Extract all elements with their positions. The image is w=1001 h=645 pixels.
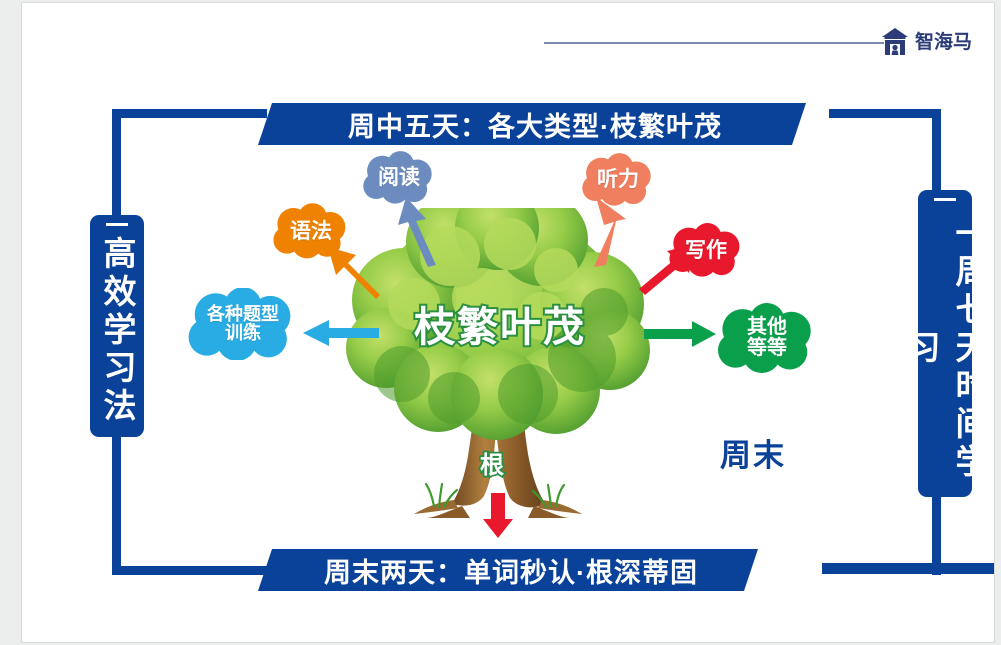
frame-segment-right-lower [932, 495, 941, 575]
notch-decoration [106, 223, 128, 226]
side-label-right: 一周七天时间学习 [918, 190, 972, 497]
frame-segment-top-right [829, 109, 941, 118]
cloud-writing-label: 写作 [685, 240, 727, 262]
arrow-to-other-icon [644, 319, 718, 349]
cloud-exercise-line2: 训练 [225, 323, 261, 343]
cloud-exercise-label: 各种题型 训练 [207, 305, 279, 343]
cloud-other-line2: 等等 [747, 337, 787, 359]
header-rule [544, 42, 884, 44]
arrow-to-grammar-icon [318, 241, 388, 303]
frame-segment-left-lower [112, 435, 121, 575]
cloud-listening-label: 听力 [597, 169, 639, 191]
side-label-right-text: 一周七天时间学习 [897, 200, 993, 497]
arrow-to-listening-icon [584, 193, 634, 269]
notch-decoration [934, 198, 956, 201]
cloud-other-label: 其他 等等 [747, 317, 787, 359]
cloud-other[interactable]: 其他 等等 [713, 303, 821, 373]
banner-weekday: 周中五天：各大类型·枝繁叶茂 [258, 103, 806, 145]
frame-segment-bottom-right [822, 563, 994, 574]
arrow-to-exercise-icon [301, 318, 379, 348]
arrow-to-roots-icon [481, 493, 515, 539]
banner-weekend: 周末两天：单词秒认·根深蒂固 [258, 549, 758, 591]
cloud-exercise-training[interactable]: 各种题型 训练 [184, 288, 302, 360]
tree-canopy-caption: 枝繁叶茂 [414, 293, 586, 353]
side-label-left-text: 高效学习法 [93, 236, 141, 426]
weekend-label: 周末 [720, 430, 786, 475]
banner-weekday-text: 周中五天：各大类型·枝繁叶茂 [348, 105, 722, 144]
banner-weekend-text: 周末两天：单词秒认·根深蒂固 [324, 551, 698, 590]
frame-segment-right-upper [932, 109, 941, 191]
cloud-exercise-line1: 各种题型 [207, 304, 279, 324]
side-label-left: 高效学习法 [90, 215, 144, 437]
house-horse-logo-icon [878, 25, 912, 59]
slide-canvas: 智海马 高效学习法 一周七天时间学习 周中五天：各大类型·枝繁叶茂 周末两天：单… [22, 3, 994, 642]
cloud-other-line1: 其他 [747, 316, 787, 338]
brand-name: 智海马 [915, 33, 972, 52]
frame-segment-top-left [112, 109, 267, 118]
brand-logo: 智海马 [878, 21, 994, 63]
cloud-grammar-label: 语法 [290, 221, 332, 243]
arrow-to-reading-icon [396, 193, 446, 269]
cloud-reading-label: 阅读 [378, 167, 420, 189]
frame-segment-left-upper [112, 109, 121, 216]
frame-segment-bottom-left [112, 566, 267, 575]
tree-root-caption: 根 [480, 445, 504, 480]
